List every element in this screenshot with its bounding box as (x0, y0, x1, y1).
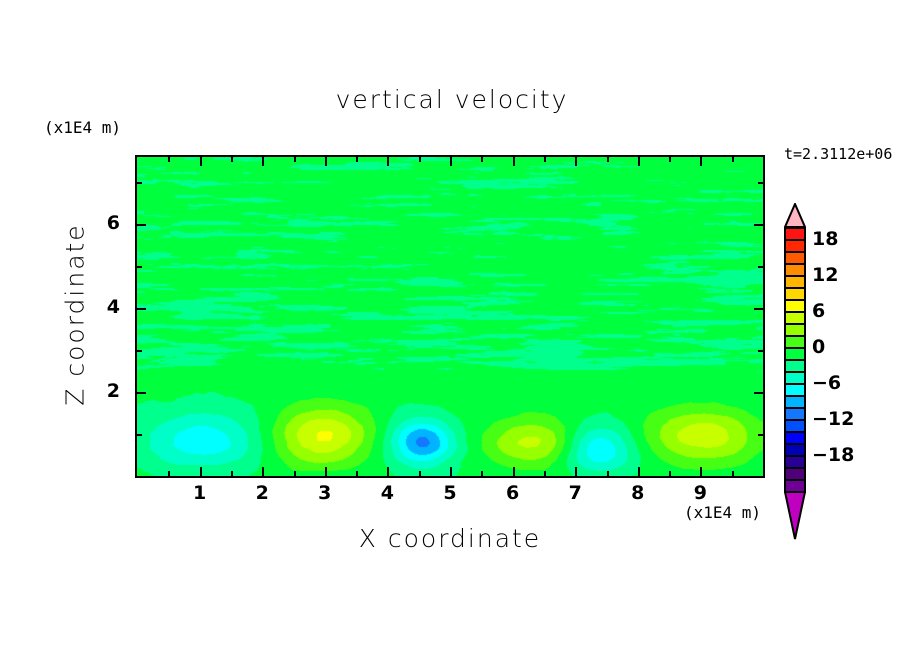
colorbar-separator (784, 383, 806, 385)
x-tick-label: 2 (242, 482, 282, 504)
colorbar-separator (784, 335, 806, 337)
colorbar-separator (784, 227, 806, 229)
colorbar-tick-label: 0 (812, 336, 825, 358)
tick-mark (758, 434, 763, 436)
contour-plot-area (135, 155, 765, 478)
x-axis-unit-label: (x1E4 m) (684, 503, 761, 522)
tick-mark (231, 157, 233, 162)
colorbar-separator (784, 395, 806, 397)
colorbar-separator (784, 275, 806, 277)
tick-mark (575, 157, 577, 166)
tick-mark (262, 157, 264, 166)
tick-mark (137, 266, 142, 268)
tick-mark (758, 350, 763, 352)
tick-mark (607, 157, 609, 162)
colorbar-separator (784, 239, 806, 241)
colorbar-separator (784, 299, 806, 301)
tick-mark (669, 157, 671, 162)
tick-mark (356, 157, 358, 162)
tick-mark (669, 471, 671, 476)
tick-mark (481, 157, 483, 162)
colorbar-separator (784, 263, 806, 265)
tick-mark (607, 471, 609, 476)
tick-mark (419, 157, 421, 162)
tick-mark (137, 182, 142, 184)
tick-mark (732, 471, 734, 476)
x-tick-label: 1 (180, 482, 220, 504)
tick-mark (450, 467, 452, 476)
tick-mark (262, 467, 264, 476)
colorbar-separator (784, 419, 806, 421)
x-tick-label: 7 (555, 482, 595, 504)
y-axis-unit-label: (x1E4 m) (44, 118, 121, 137)
colorbar-separator (784, 467, 806, 469)
tick-mark (754, 308, 763, 310)
tick-mark (137, 434, 142, 436)
tick-mark (638, 467, 640, 476)
tick-mark (200, 467, 202, 476)
tick-mark (700, 157, 702, 166)
contour-field (137, 157, 763, 476)
tick-mark (325, 157, 327, 166)
colorbar-separator (784, 479, 806, 481)
colorbar-tick-label: 12 (812, 264, 838, 286)
colorbar-separator (784, 455, 806, 457)
x-tick-label: 6 (493, 482, 533, 504)
colorbar-tick-label: 18 (812, 228, 838, 250)
tick-mark (754, 392, 763, 394)
colorbar-separator (784, 287, 806, 289)
tick-mark (450, 157, 452, 166)
tick-mark (137, 308, 146, 310)
tick-mark (356, 471, 358, 476)
tick-mark (638, 157, 640, 166)
tick-mark (325, 467, 327, 476)
tick-mark (387, 157, 389, 166)
colorbar-separator (784, 407, 806, 409)
tick-mark (419, 471, 421, 476)
colorbar-separator (784, 323, 806, 325)
tick-mark (231, 471, 233, 476)
colorbar-tick-label: −12 (812, 408, 854, 430)
tick-mark (137, 350, 142, 352)
y-tick-label: 4 (86, 296, 120, 318)
x-tick-label: 5 (430, 482, 470, 504)
tick-mark (544, 471, 546, 476)
colorbar-tick-label: −6 (812, 372, 841, 394)
tick-mark (481, 471, 483, 476)
colorbar-separator (784, 311, 806, 313)
tick-mark (168, 157, 170, 162)
x-tick-label: 9 (680, 482, 720, 504)
tick-mark (758, 182, 763, 184)
colorbar-under-arrow (784, 491, 806, 540)
tick-mark (575, 467, 577, 476)
page-title: vertical velocity (0, 85, 904, 114)
y-tick-label: 6 (86, 212, 120, 234)
tick-mark (758, 266, 763, 268)
tick-mark (513, 467, 515, 476)
tick-mark (294, 471, 296, 476)
x-tick-label: 4 (367, 482, 407, 504)
colorbar-separator (784, 371, 806, 373)
tick-mark (544, 157, 546, 162)
colorbar-separator (784, 431, 806, 433)
tick-mark (700, 467, 702, 476)
colorbar-separator (784, 443, 806, 445)
tick-mark (754, 224, 763, 226)
tick-mark (294, 157, 296, 162)
x-tick-label: 3 (305, 482, 345, 504)
timestamp-label: t=2.3112e+06 (784, 145, 892, 163)
tick-mark (137, 224, 146, 226)
y-tick-label: 2 (86, 380, 120, 402)
colorbar-over-arrow (784, 203, 806, 227)
colorbar-tick-label: −18 (812, 444, 854, 466)
x-axis-title: X coordinate (135, 524, 765, 553)
tick-mark (137, 392, 146, 394)
tick-mark (387, 467, 389, 476)
tick-mark (200, 157, 202, 166)
tick-mark (732, 157, 734, 162)
colorbar (784, 203, 806, 515)
colorbar-separator (784, 347, 806, 349)
colorbar-separator (784, 359, 806, 361)
colorbar-tick-label: 6 (812, 300, 825, 322)
tick-mark (168, 471, 170, 476)
x-tick-label: 8 (618, 482, 658, 504)
tick-mark (513, 157, 515, 166)
colorbar-separator (784, 251, 806, 253)
